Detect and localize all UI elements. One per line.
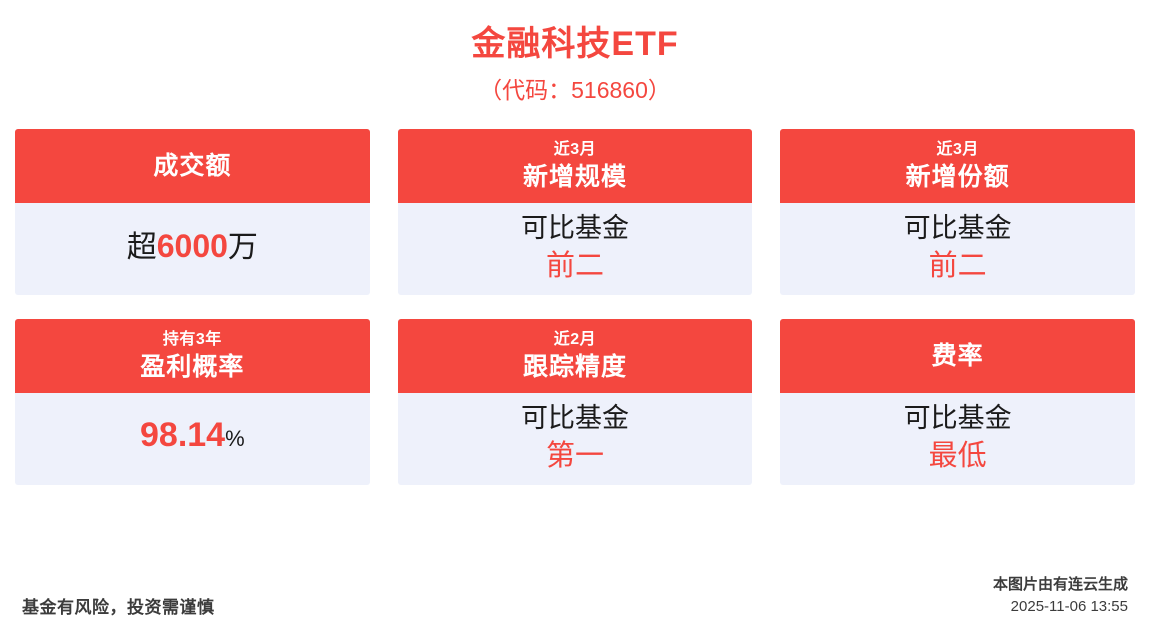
value-suffix: % [225,426,245,451]
value-number: 98.14 [140,416,225,454]
card-header: 近2月 跟踪精度 [398,319,753,393]
card-eyebrow: 持有3年 [163,329,222,351]
card-body: 可比基金 最低 [780,393,1135,485]
risk-disclaimer: 基金有风险，投资需谨慎 [22,593,215,618]
card-header: 持有3年 盈利概率 [15,319,370,393]
card-title: 跟踪精度 [523,351,627,383]
metric-card-profit-probability: 持有3年 盈利概率 98.14% [15,319,370,485]
card-title: 盈利概率 [140,351,244,383]
metric-card-new-scale: 近3月 新增规模 可比基金 前二 [398,129,753,295]
card-header: 近3月 新增规模 [398,129,753,203]
card-header: 近3月 新增份额 [780,129,1135,203]
value-prefix: 超 [127,231,157,264]
fund-code: （代码：516860） [0,70,1150,110]
card-title: 新增份额 [906,161,1010,193]
card-value: 超6000万 [127,226,258,268]
card-value-line2: 第一 [546,437,604,475]
card-value-line1: 可比基金 [521,209,629,247]
card-title: 新增规模 [523,161,627,193]
generated-at: 2025-11-06 13:55 [993,596,1128,618]
metric-card-fee-rate: 费率 可比基金 最低 [780,319,1135,485]
generated-by: 本图片由有连云生成 [993,574,1128,596]
card-value-line1: 可比基金 [904,399,1012,437]
card-eyebrow: 近3月 [554,139,596,161]
card-value-line2: 最低 [929,437,987,475]
card-body: 可比基金 前二 [398,203,753,295]
card-value-line2: 前二 [929,247,987,285]
card-body: 超6000万 [15,203,370,295]
card-body: 98.14% [15,393,370,485]
card-value: 98.14% [140,415,245,459]
card-title: 成交额 [153,149,231,183]
fund-info-card: 金融科技ETF （代码：516860） 成交额 超6000万 近3月 新增规模 … [0,0,1150,632]
metric-grid: 成交额 超6000万 近3月 新增规模 可比基金 前二 近3月 新增份额 [15,129,1135,485]
card-body: 可比基金 前二 [780,203,1135,295]
metric-card-tracking-accuracy: 近2月 跟踪精度 可比基金 第一 [398,319,753,485]
metric-card-new-shares: 近3月 新增份额 可比基金 前二 [780,129,1135,295]
value-suffix: 万 [228,231,258,264]
card-header: 成交额 [15,129,370,203]
footer: 基金有风险，投资需谨慎 本图片由有连云生成 2025-11-06 13:55 [0,574,1150,618]
generation-info: 本图片由有连云生成 2025-11-06 13:55 [993,574,1128,618]
page-title: 金融科技ETF [0,20,1150,68]
card-body: 可比基金 第一 [398,393,753,485]
card-header: 费率 [780,319,1135,393]
value-number: 6000 [157,228,228,264]
card-title: 费率 [932,339,984,373]
card-value-line1: 可比基金 [521,399,629,437]
header: 金融科技ETF （代码：516860） [0,0,1150,110]
metric-card-turnover: 成交额 超6000万 [15,129,370,295]
card-eyebrow: 近2月 [554,329,596,351]
card-eyebrow: 近3月 [936,139,978,161]
card-value-line2: 前二 [546,247,604,285]
card-value-line1: 可比基金 [904,209,1012,247]
